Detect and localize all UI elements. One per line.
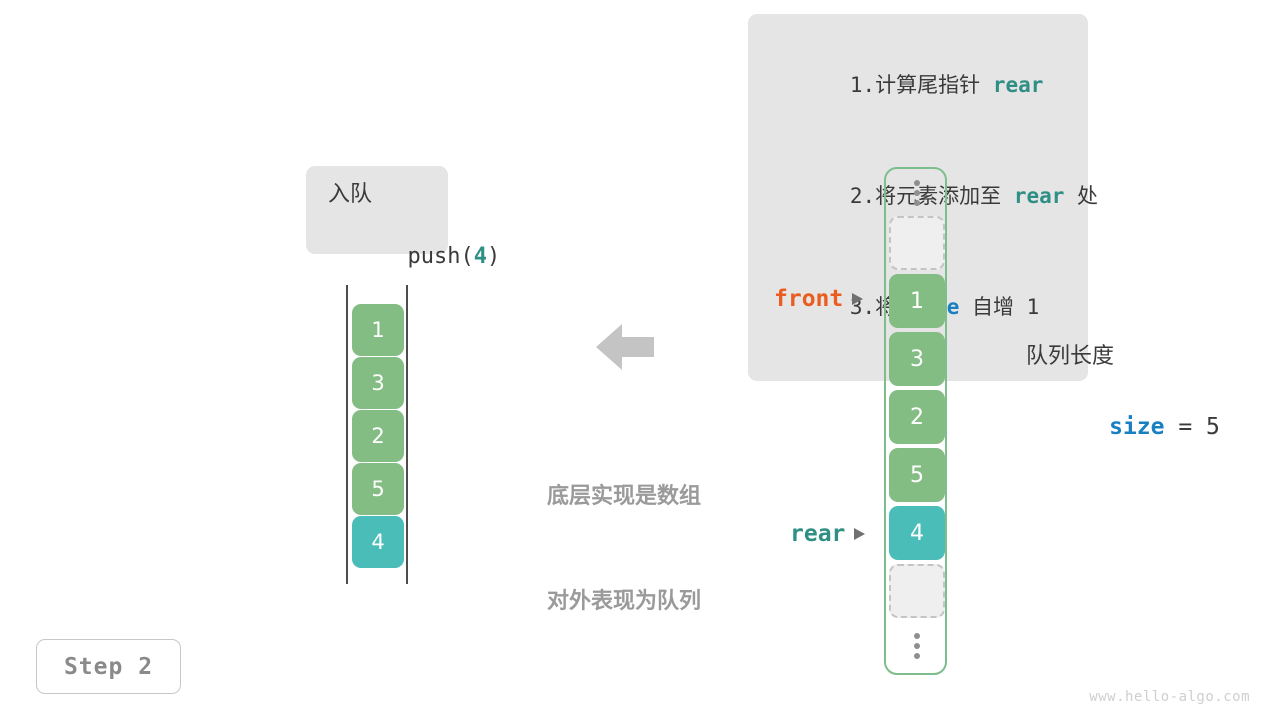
array-container: 1 3 2 5 4 (884, 167, 947, 675)
array-cell-empty (889, 216, 945, 270)
array-cell: 2 (889, 390, 945, 444)
rear-arrow-icon (854, 528, 865, 540)
operation-label-cn: 入队 (328, 179, 448, 210)
caption-line-1: 底层实现是数组 (528, 479, 720, 514)
left-arrow-icon (596, 322, 654, 372)
instruction-2-suffix: 处 (1064, 184, 1098, 208)
size-number: 5 (1206, 414, 1220, 440)
operation-code-suffix: ) (487, 244, 500, 269)
front-pointer-label: front (774, 286, 843, 312)
ellipsis-bottom-icon (889, 622, 945, 669)
array-cells: 1 3 2 5 4 (889, 169, 945, 669)
watermark: www.hello-algo.com (1089, 689, 1250, 705)
instruction-1-keyword: rear (993, 73, 1044, 97)
operation-code-value: 4 (474, 244, 487, 269)
instruction-2-number: 2. (850, 184, 875, 208)
rear-pointer: rear (790, 521, 865, 547)
size-annotation: 队列长度 size = 5 (1026, 341, 1220, 481)
queue-bracket-left (346, 285, 348, 584)
instruction-3-suffix: 自增 1 (959, 295, 1039, 319)
ellipsis-top-icon (889, 169, 945, 216)
instruction-1-number: 1. (850, 73, 875, 97)
array-cell-new: 4 (889, 506, 945, 560)
operation-code-prefix: push( (407, 244, 473, 269)
instruction-line-1: 1.计算尾指针 rear (748, 30, 1088, 141)
queue-bracket-right (406, 285, 408, 584)
array-cell: 3 (889, 332, 945, 386)
left-queue-cell: 5 (352, 463, 404, 515)
array-cell-empty (889, 564, 945, 618)
operation-label-box: 入队 push(4) (306, 166, 448, 254)
caption-line-2: 对外表现为队列 (528, 584, 720, 619)
front-pointer: front (774, 286, 863, 312)
size-equals: = (1164, 414, 1206, 440)
left-queue-cells: 1 3 2 5 4 (352, 304, 404, 569)
array-cell: 5 (889, 448, 945, 502)
left-queue-cell: 3 (352, 357, 404, 409)
size-annotation-title: 队列长度 (1026, 341, 1220, 373)
front-arrow-icon (852, 293, 863, 305)
instruction-1-prefix: 计算尾指针 (875, 73, 993, 97)
diagram-canvas: 1.计算尾指针 rear 2.将元素添加至 rear 处 3.将 size 自增… (0, 0, 1280, 720)
size-annotation-value: size = 5 (1026, 373, 1220, 481)
center-caption: 底层实现是数组 对外表现为队列 (528, 409, 720, 689)
left-queue-cell: 2 (352, 410, 404, 462)
array-cell: 1 (889, 274, 945, 328)
size-variable-name: size (1109, 414, 1164, 440)
left-queue-cell-new: 4 (352, 516, 404, 568)
rear-pointer-label: rear (790, 521, 845, 547)
instruction-2-keyword: rear (1014, 184, 1065, 208)
left-queue-cell: 1 (352, 304, 404, 356)
step-badge: Step 2 (36, 639, 181, 694)
